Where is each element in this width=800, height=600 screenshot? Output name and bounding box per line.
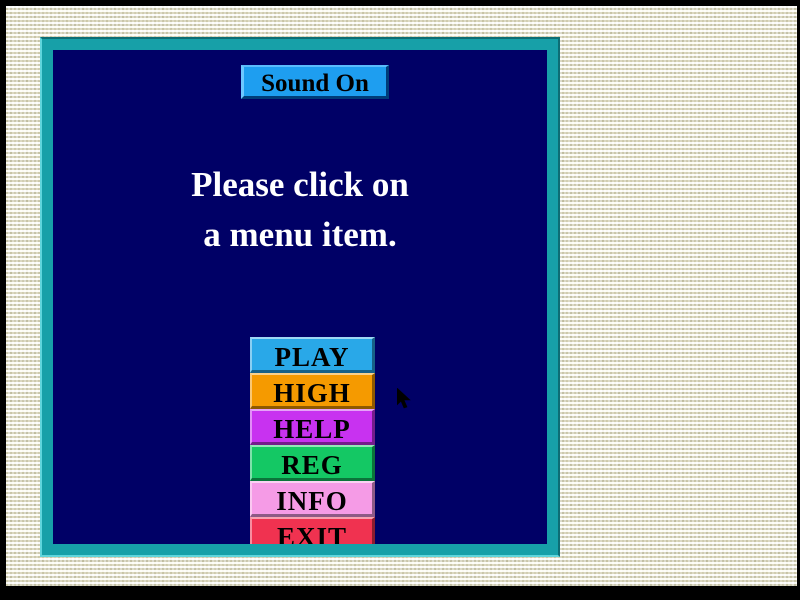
menu-button-play[interactable]: PLAY	[250, 337, 375, 373]
instruction-message-line-1: Please click on	[53, 160, 547, 210]
screen-frame-top	[0, 0, 800, 6]
menu-button-high[interactable]: HIGH	[250, 373, 375, 409]
game-screen: Sound On Please click on a menu item. PL…	[0, 0, 800, 600]
mouse-cursor-arrow-icon	[397, 388, 411, 410]
screen-frame-bottom	[0, 586, 800, 600]
instruction-message: Please click on a menu item.	[53, 160, 547, 260]
game-panel: Sound On Please click on a menu item. PL…	[53, 50, 547, 544]
main-menu: PLAYHIGHHELPREGINFOEXIT	[250, 337, 375, 544]
menu-button-info[interactable]: INFO	[250, 481, 375, 517]
menu-button-exit[interactable]: EXIT	[250, 517, 375, 544]
screen-frame-left	[0, 0, 6, 600]
menu-button-help[interactable]: HELP	[250, 409, 375, 445]
game-window-border: Sound On Please click on a menu item. PL…	[40, 37, 560, 557]
menu-button-reg[interactable]: REG	[250, 445, 375, 481]
sound-toggle-button[interactable]: Sound On	[241, 65, 389, 99]
instruction-message-line-2: a menu item.	[53, 210, 547, 260]
